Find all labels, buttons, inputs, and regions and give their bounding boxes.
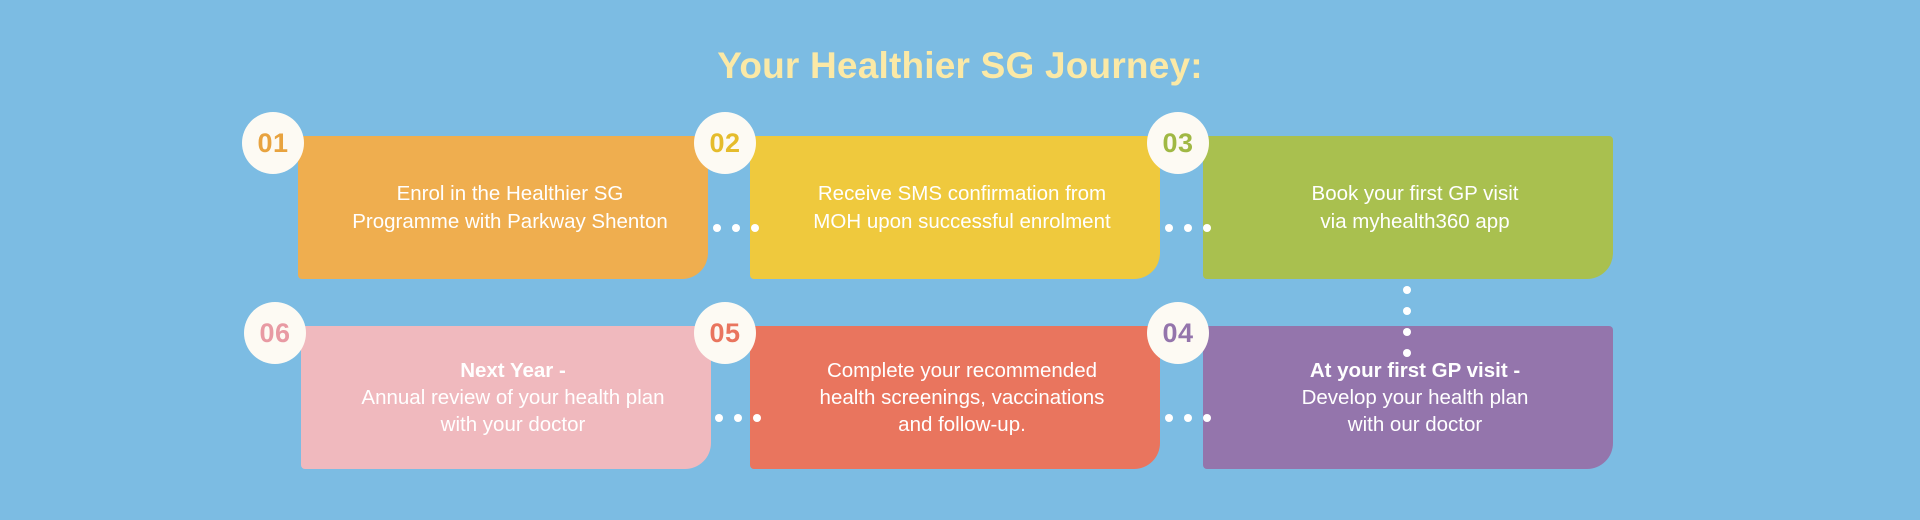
connector-dot [1184,224,1192,232]
step-card-01: Enrol in the Healthier SG Programme with… [298,136,708,279]
step-card-01-text: Enrol in the Healthier SG Programme with… [352,180,668,235]
step-card-06-line-2: with your doctor [361,411,664,438]
step-badge-06: 06 [244,302,306,364]
step-card-02: Receive SMS confirmation from MOH upon s… [750,136,1160,279]
step-card-05-text: Complete your recommended health screeni… [820,357,1105,439]
step-card-02-text: Receive SMS confirmation from MOH upon s… [813,180,1110,235]
connector-dot [1165,414,1173,422]
step-badge-05: 05 [694,302,756,364]
step-card-04-line-1: Develop your health plan [1302,384,1529,411]
step-card-05-line-3: and follow-up. [820,411,1105,438]
step-card-04-text: At your first GP visit - Develop your he… [1302,357,1529,439]
connector-dot [1165,224,1173,232]
step-badge-02: 02 [694,112,756,174]
step-card-02-line-2: MOH upon successful enrolment [813,208,1110,235]
step-card-03: Book your first GP visit via myhealth360… [1203,136,1613,279]
step-card-06-heading: Next Year - [361,357,664,384]
step-badge-05-number: 05 [709,318,740,349]
connector-dot [753,414,761,422]
step-card-06-line-1: Annual review of your health plan [361,384,664,411]
step-badge-04-number: 04 [1162,318,1193,349]
step-card-05-line-1: Complete your recommended [820,357,1105,384]
step-badge-04: 04 [1147,302,1209,364]
connector-dot [1184,414,1192,422]
connector-dot [1403,349,1411,357]
step-card-06-text: Next Year - Annual review of your health… [361,357,664,439]
step-badge-01-number: 01 [257,128,288,159]
connector-dot [1403,328,1411,336]
connector-dots-03-04 [1403,286,1411,357]
step-badge-03: 03 [1147,112,1209,174]
connector-dot [751,224,759,232]
connector-dots-05-04 [1165,414,1211,422]
connector-dot [1403,286,1411,294]
step-card-03-line-2: via myhealth360 app [1312,208,1519,235]
connector-dot [713,224,721,232]
connector-dot [732,224,740,232]
step-card-03-text: Book your first GP visit via myhealth360… [1312,180,1519,235]
step-badge-06-number: 06 [259,318,290,349]
step-badge-03-number: 03 [1162,128,1193,159]
step-card-03-line-1: Book your first GP visit [1312,180,1519,207]
connector-dot [734,414,742,422]
connector-dots-02-03 [1165,224,1211,232]
step-card-06: Next Year - Annual review of your health… [301,326,711,469]
step-badge-02-number: 02 [709,128,740,159]
step-card-05-line-2: health screenings, vaccinations [820,384,1105,411]
connector-dot [1403,307,1411,315]
connector-dot [1203,224,1211,232]
connector-dots-06-05 [715,414,761,422]
step-card-01-line-1: Enrol in the Healthier SG [352,180,668,207]
step-card-04-heading: At your first GP visit - [1302,357,1529,384]
connector-dots-01-02 [713,224,759,232]
step-card-02-line-1: Receive SMS confirmation from [813,180,1110,207]
page-title: Your Healthier SG Journey: [0,45,1920,87]
step-badge-01: 01 [242,112,304,174]
step-card-05: Complete your recommended health screeni… [750,326,1160,469]
infographic-canvas: Your Healthier SG Journey: Enrol in the … [0,0,1920,520]
connector-dot [1203,414,1211,422]
step-card-04-line-2: with our doctor [1302,411,1529,438]
connector-dot [715,414,723,422]
step-card-01-line-2: Programme with Parkway Shenton [352,208,668,235]
journey-steps-board: Enrol in the Healthier SG Programme with… [298,136,1622,486]
